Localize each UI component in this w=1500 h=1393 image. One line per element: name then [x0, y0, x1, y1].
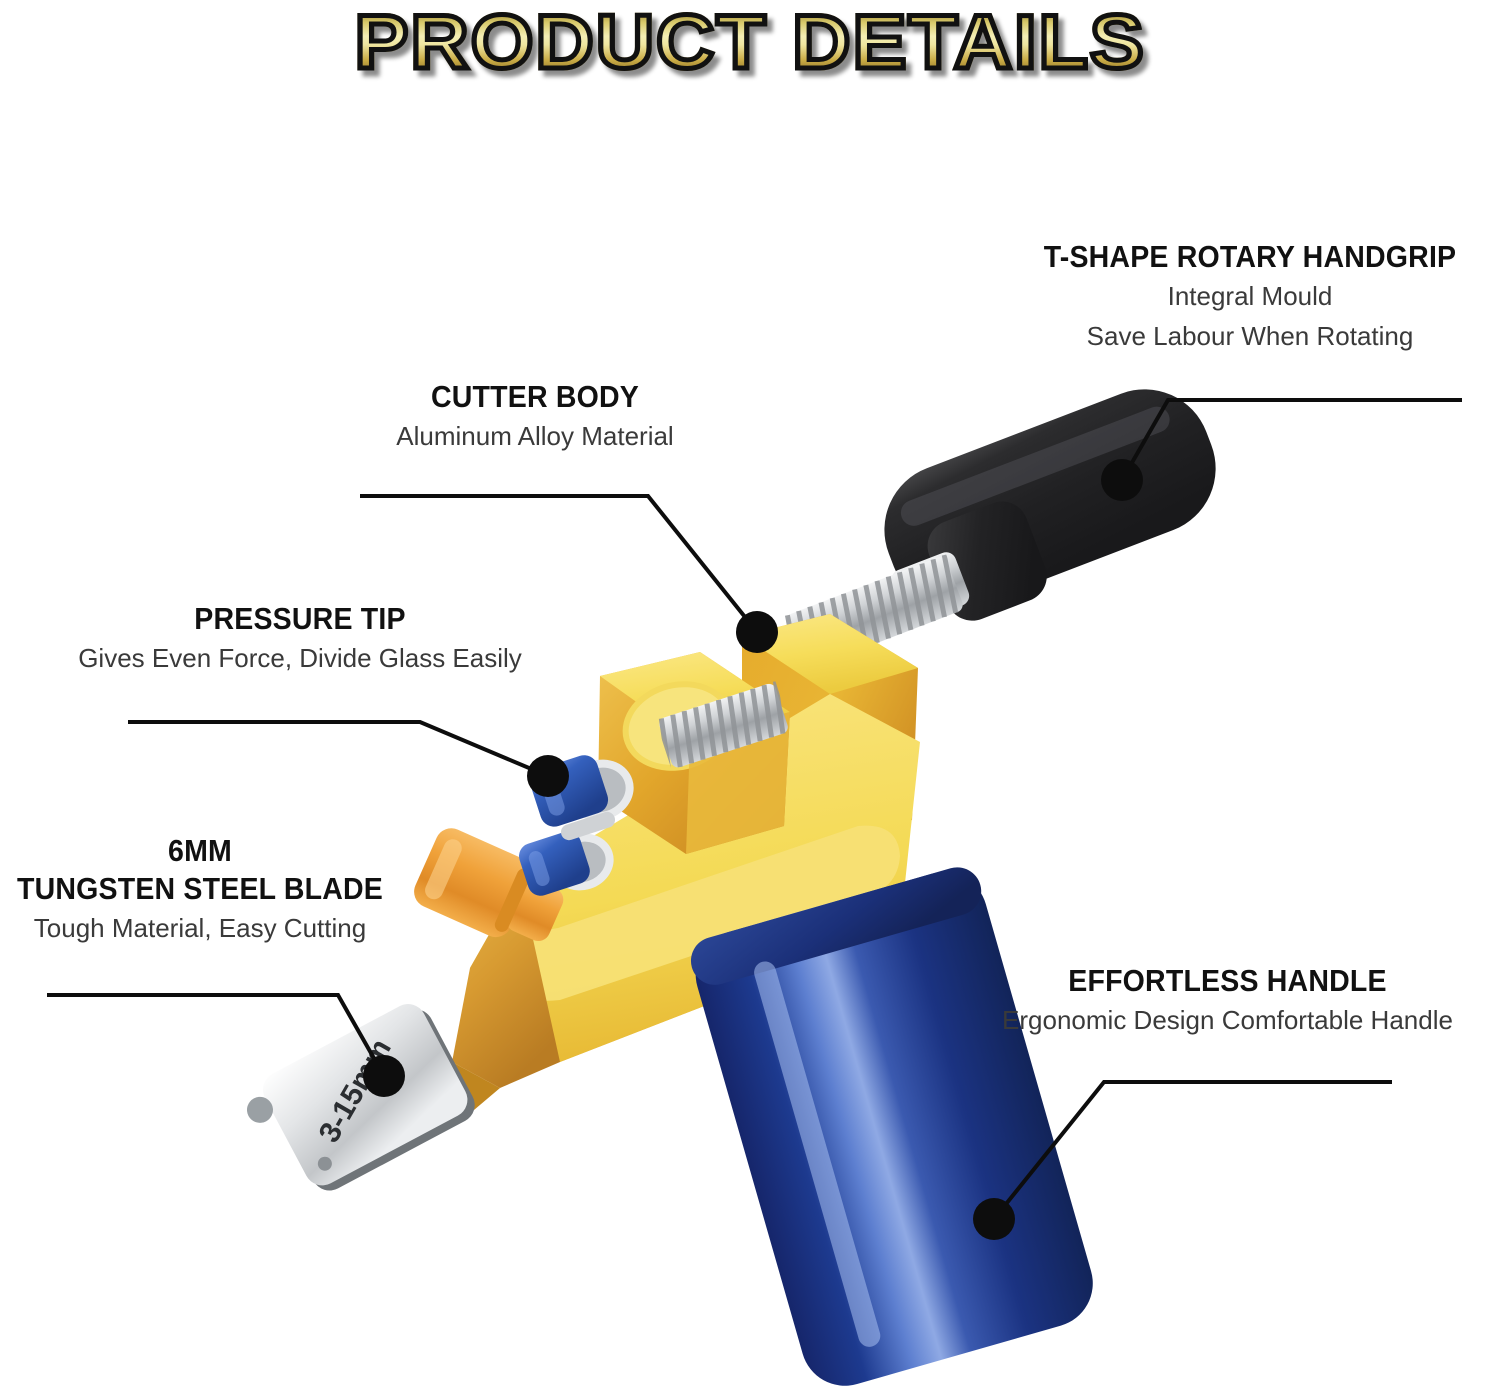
callout-heading-blade-line2: TUNGSTEN STEEL BLADE: [7, 870, 393, 908]
callout-subline-effortless-handle-1: Ergonomic Design Comfortable Handle: [955, 1000, 1500, 1040]
product-illustration: 3-15mm: [0, 0, 1500, 1393]
leader-dot-blade: [363, 1055, 405, 1097]
callout-subline-handgrip-2: Save Labour When Rotating: [1000, 316, 1500, 356]
callout-subline-cutter-body-1: Aluminum Alloy Material: [300, 416, 770, 456]
callout-heading-cutter-body: CUTTER BODY: [319, 378, 751, 416]
leader-line-pressure-tip: [128, 722, 548, 776]
callout-subline-blade-1: Tough Material, Easy Cutting: [0, 908, 410, 948]
callout-subline-pressure-tip-1: Gives Even Force, Divide Glass Easily: [20, 638, 580, 678]
product-details-infographic: PRODUCT DETAILS: [0, 0, 1500, 1393]
callout-effortless-handle: EFFORTLESS HANDLE Ergonomic Design Comfo…: [955, 962, 1500, 1040]
leader-dot-handgrip: [1101, 459, 1143, 501]
leader-dot-handle: [973, 1198, 1015, 1240]
leader-dot-cutter-body: [736, 611, 778, 653]
callout-heading-pressure-tip: PRESSURE TIP: [42, 600, 557, 638]
callout-t-shape-rotary-handgrip: T-SHAPE ROTARY HANDGRIP Integral Mould S…: [1000, 238, 1500, 356]
callout-pressure-tip: PRESSURE TIP Gives Even Force, Divide Gl…: [20, 600, 580, 678]
callout-tungsten-steel-blade: 6MM TUNGSTEN STEEL BLADE Tough Material,…: [0, 832, 410, 948]
effortless-handle-art: [685, 862, 1103, 1393]
callout-heading-effortless-handle: EFFORTLESS HANDLE: [977, 962, 1478, 1000]
callout-subline-handgrip-1: Integral Mould: [1000, 276, 1500, 316]
callout-cutter-body: CUTTER BODY Aluminum Alloy Material: [300, 378, 770, 456]
leader-dot-pressure-tip: [527, 755, 569, 797]
callout-heading-blade-line1: 6MM: [7, 832, 393, 870]
callout-heading-handgrip: T-SHAPE ROTARY HANDGRIP: [1020, 238, 1480, 276]
